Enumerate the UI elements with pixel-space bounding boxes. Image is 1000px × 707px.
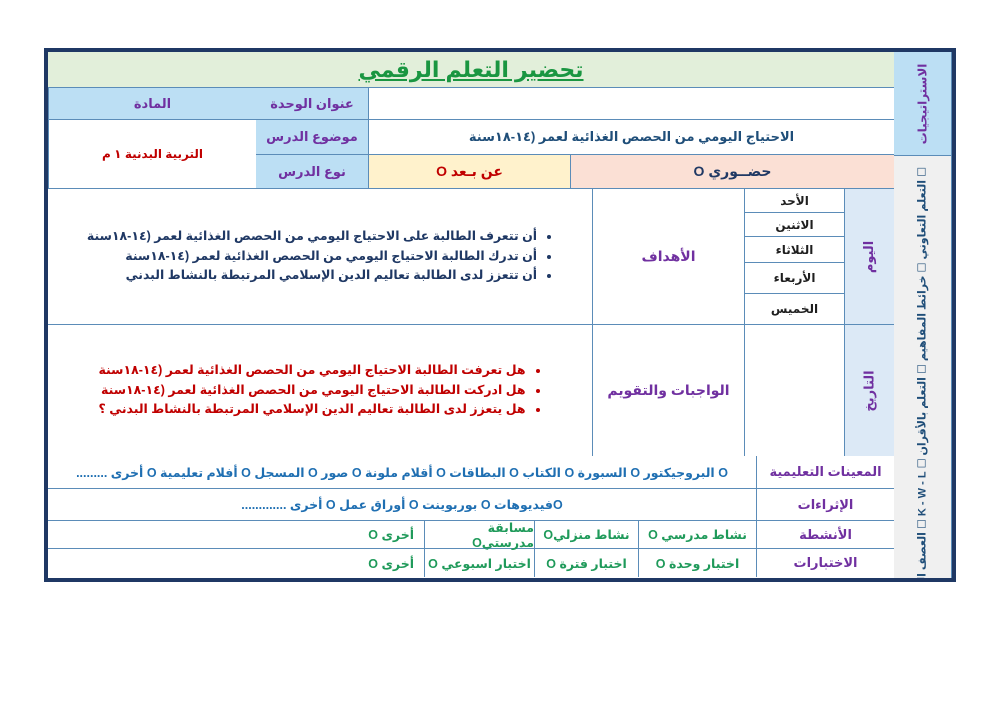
lesson-subject-value[interactable]: الاحتياج اليومي من الحصص الغذائية لعمر (…: [368, 120, 894, 155]
page-title-text: تحضير التعلم الرقمي: [358, 57, 583, 83]
subject-label: المادة: [49, 88, 256, 120]
tests-row: الاختبارات اختبار وحدة O اختبار فترة O ا…: [48, 549, 894, 577]
day-tuesday[interactable]: الثلاثاء: [745, 237, 844, 263]
enrichment-options[interactable]: Oفيديوهات O بوربوينت O أوراق عمل O أخرى …: [48, 489, 756, 521]
main-body: تحضير التعلم الرقمي عنوان الوحدة الاحتيا…: [48, 52, 894, 578]
day-date-labels: اليوم التاريخ: [844, 189, 894, 456]
date-label: التاريخ: [845, 325, 894, 456]
activities-label: الأنشطة: [756, 521, 894, 549]
goal-item: أن تتعرف الطالبة على الاحتياج اليومي من …: [87, 227, 537, 246]
enrichment-label: الإثراءات: [756, 489, 894, 521]
strategies-sidebar: الاستراتيجيات ☐ التعلم التعاوني ☐ خرائط …: [894, 52, 952, 578]
goals-list: أن تتعرف الطالبة على الاحتياج اليومي من …: [87, 227, 553, 285]
day-thursday[interactable]: الخميس: [745, 294, 844, 325]
date-value[interactable]: [745, 325, 844, 456]
subject-block: المادة التربية البدنية ١ م: [48, 88, 256, 189]
assessment-item: هل يتعزز لدى الطالبة تعاليم الدين الإسلا…: [98, 400, 525, 419]
goals-content: أن تتعرف الطالبة على الاحتياج اليومي من …: [48, 189, 592, 325]
strategies-body: ☐ التعلم التعاوني ☐ خرائط المفاهيم ☐ الت…: [894, 156, 951, 578]
lesson-type-label: نوع الدرس: [256, 155, 368, 189]
assessment-item: هل ادركت الطالبة الاحتياج اليومي من الحص…: [98, 381, 525, 400]
days-column: الأحد الاثنين الثلاثاء الأربعاء الخميس: [744, 189, 844, 456]
unit-title-row: عنوان الوحدة: [256, 88, 894, 120]
teaching-aids-row: المعينات التعليمية O البروجيكتور O السبو…: [48, 456, 894, 489]
lesson-type-row: حضــوري O عن بـعد O نوع الدرس: [256, 155, 894, 189]
tests-label: الاختبارات: [756, 549, 894, 577]
activity-school[interactable]: نشاط مدرسي O: [638, 521, 756, 549]
test-unit[interactable]: اختبار وحدة O: [638, 549, 756, 577]
assessment-list: هل تعرفت الطالبة الاحتياج اليومي من الحص…: [98, 361, 541, 419]
teaching-aids-label: المعينات التعليمية: [756, 456, 894, 489]
middle-block: اليوم التاريخ الأحد الاثنين الثلاثاء الأ…: [48, 189, 894, 456]
day-wednesday[interactable]: الأربعاء: [745, 263, 844, 294]
goal-item: أن تتعزز لدى الطالبة تعاليم الدين الإسلا…: [87, 266, 537, 285]
lesson-plan-sheet: تحضير التعلم الرقمي عنوان الوحدة الاحتيا…: [44, 48, 956, 582]
lesson-type-in-person[interactable]: حضــوري O: [570, 155, 894, 189]
activities-row: الأنشطة نشاط مدرسي O نشاط منزليO مسابقة …: [48, 521, 894, 549]
section-labels: الأهداف الواجبات والتقويم: [592, 189, 744, 456]
activity-contest[interactable]: مسابقة مدرستيO: [424, 521, 534, 549]
day-monday[interactable]: الاثنين: [745, 213, 844, 237]
strategies-header-text: الاستراتيجيات: [916, 63, 930, 144]
enrichment-row: الإثراءات Oفيديوهات O بوربوينت O أوراق ع…: [48, 489, 894, 521]
strategies-list-text[interactable]: ☐ التعلم التعاوني ☐ خرائط المفاهيم ☐ الت…: [915, 167, 930, 567]
strategies-header: الاستراتيجيات: [894, 52, 951, 156]
day-sunday[interactable]: الأحد: [745, 189, 844, 213]
activity-home[interactable]: نشاط منزليO: [534, 521, 638, 549]
day-label: اليوم: [845, 189, 894, 325]
unit-title-value[interactable]: [368, 88, 894, 120]
assessment-label: الواجبات والتقويم: [593, 325, 744, 456]
header-fields: عنوان الوحدة الاحتياج اليومي من الحصص ال…: [256, 88, 894, 189]
header-block: عنوان الوحدة الاحتياج اليومي من الحصص ال…: [48, 88, 894, 189]
assessment-content: هل تعرفت الطالبة الاحتياج اليومي من الحص…: [48, 325, 592, 456]
teaching-aids-options[interactable]: O البروجيكتور O السبورة O الكتاب O البطا…: [48, 456, 756, 489]
goals-label: الأهداف: [593, 189, 744, 325]
page-title: تحضير التعلم الرقمي: [48, 52, 894, 88]
test-period[interactable]: اختبار فترة O: [534, 549, 638, 577]
goal-item: أن تدرك الطالبة الاحتياج اليومي من الحصص…: [87, 247, 537, 266]
lesson-subject-label: موضوع الدرس: [256, 120, 368, 155]
lesson-subject-row: الاحتياج اليومي من الحصص الغذائية لعمر (…: [256, 120, 894, 155]
test-other[interactable]: أخرى O: [48, 549, 424, 577]
lesson-type-remote[interactable]: عن بـعد O: [368, 155, 570, 189]
assessment-item: هل تعرفت الطالبة الاحتياج اليومي من الحص…: [98, 361, 525, 380]
unit-title-label: عنوان الوحدة: [256, 88, 368, 120]
test-weekly[interactable]: اختبار اسبوعي O: [424, 549, 534, 577]
activity-other[interactable]: أخرى O: [48, 521, 424, 549]
section-content: أن تتعرف الطالبة على الاحتياج اليومي من …: [48, 189, 592, 456]
subject-value[interactable]: التربية البدنية ١ م: [49, 120, 256, 189]
